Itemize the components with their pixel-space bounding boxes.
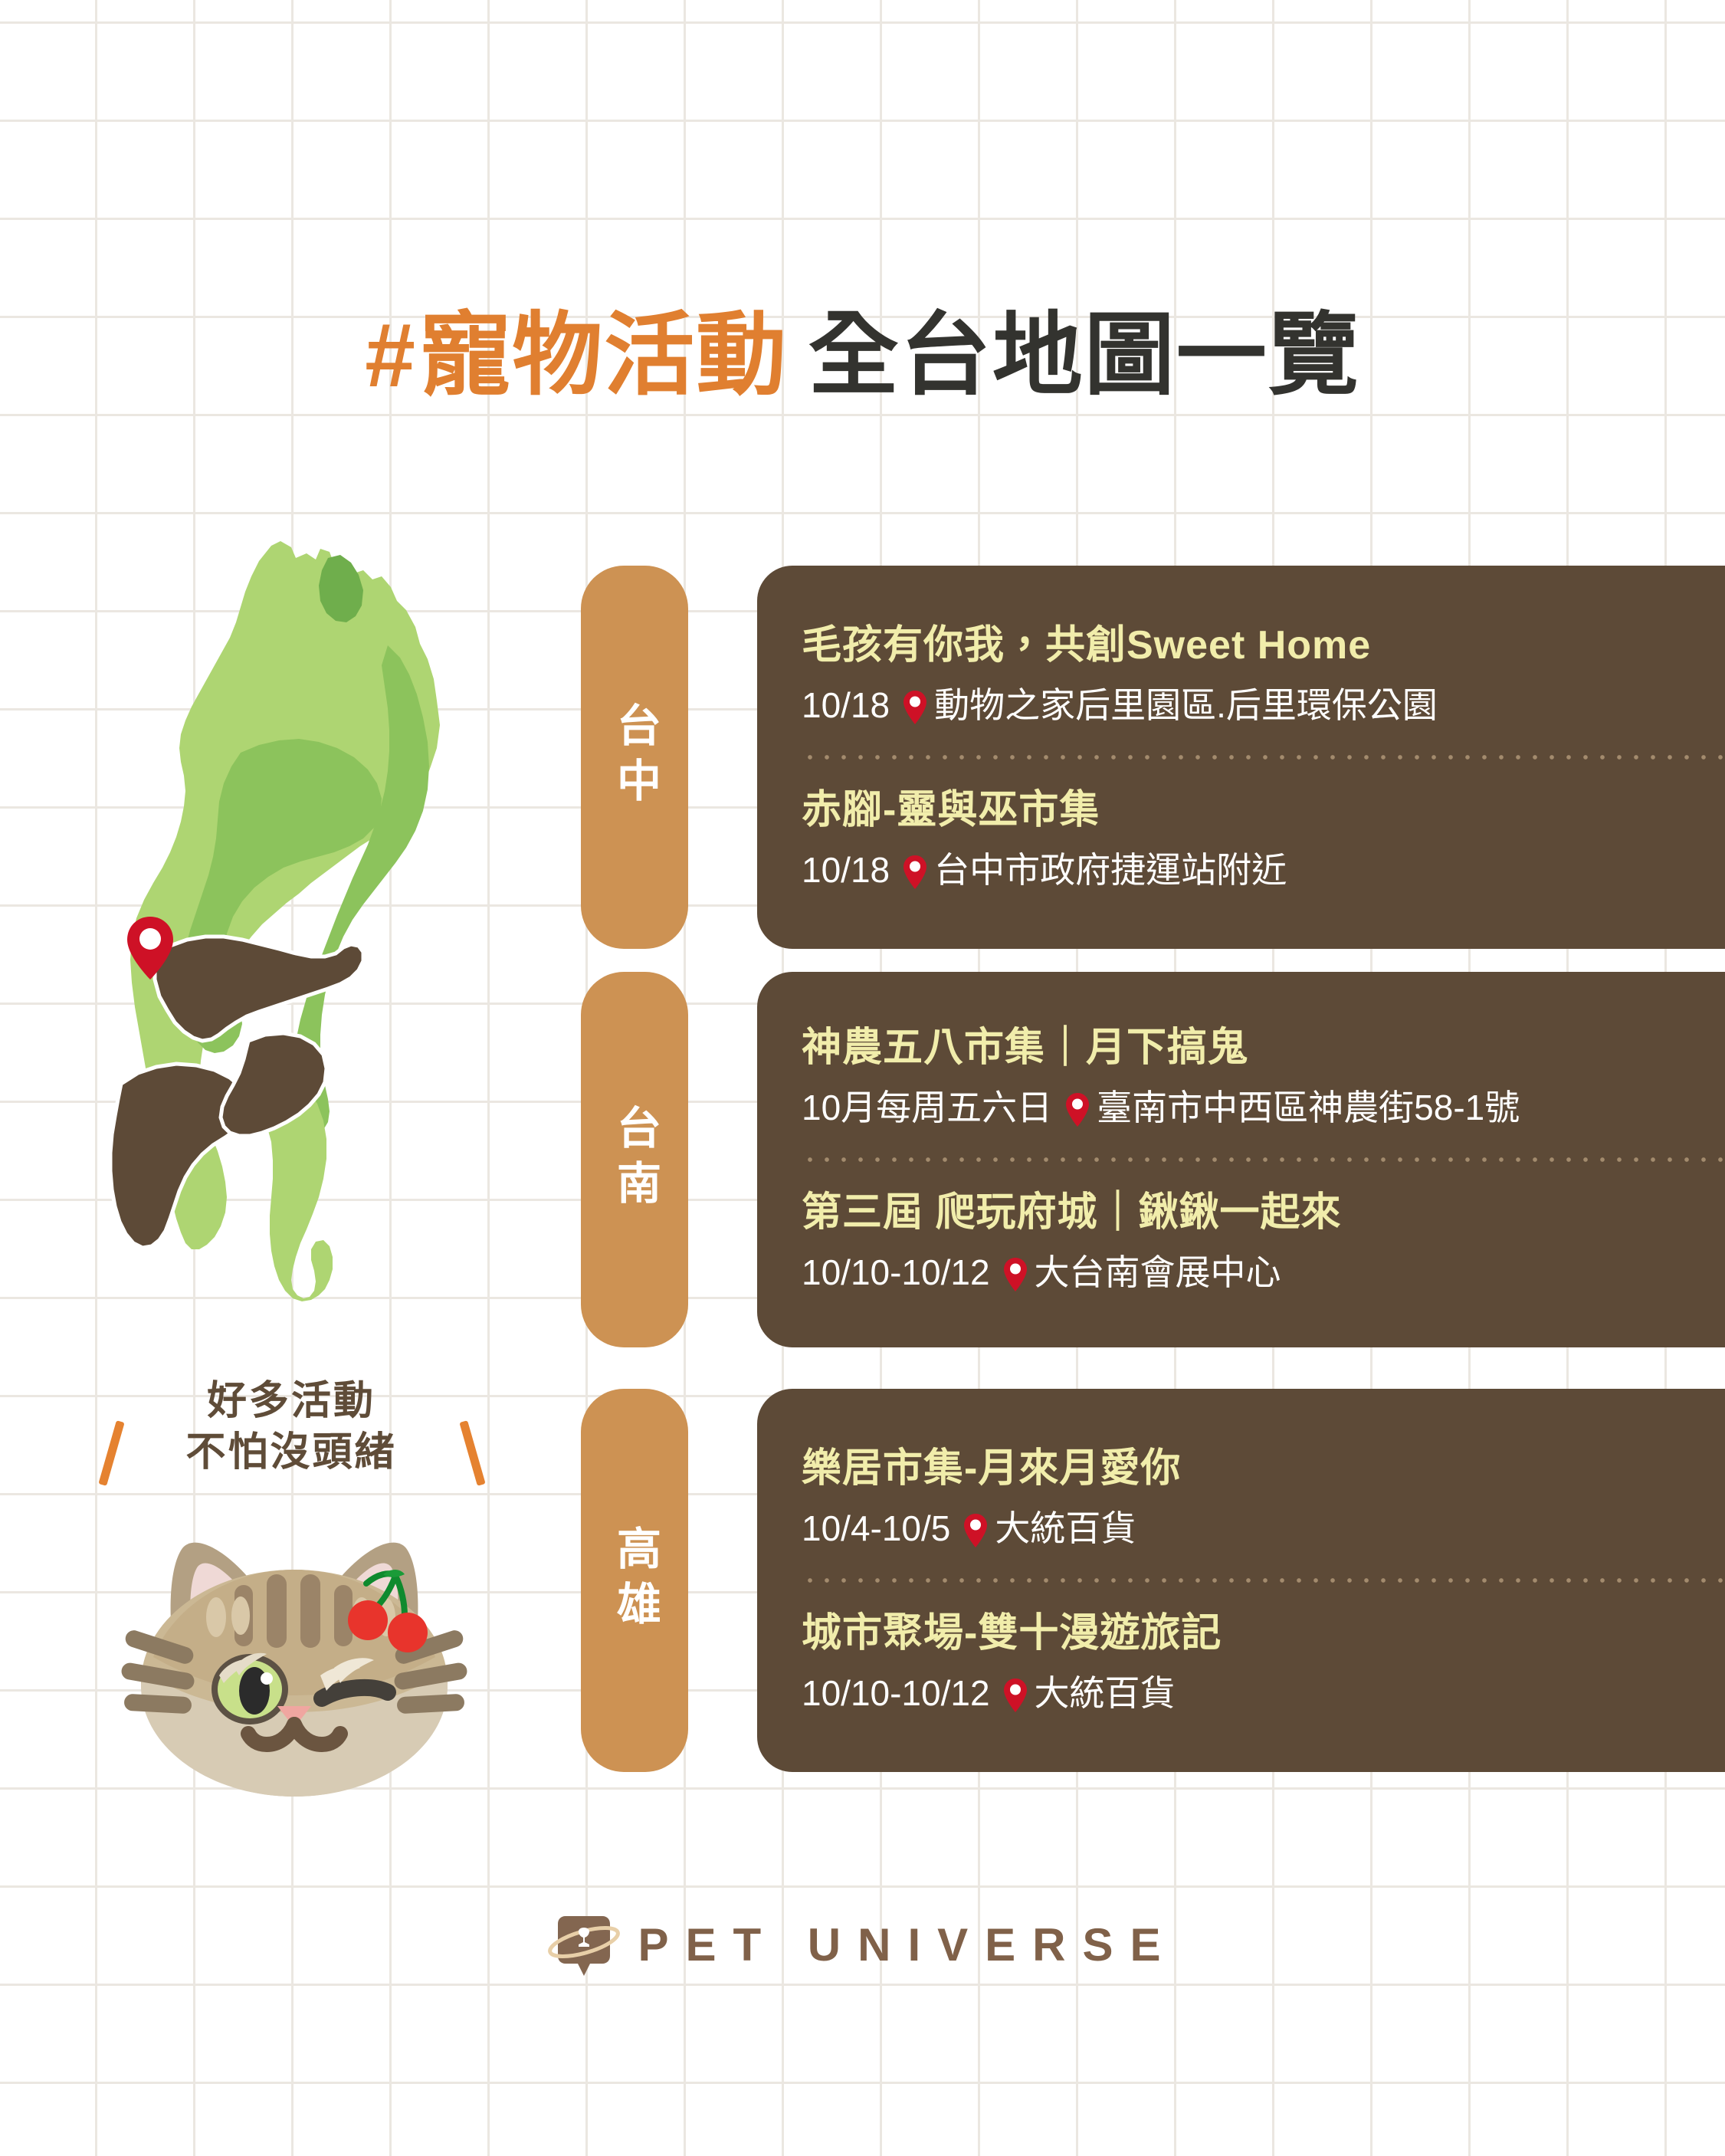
event-date: 10/10-10/12 <box>802 1671 990 1717</box>
event-meta: 10月每周五六日 臺南市中西區神農街58-1號 <box>802 1085 1725 1131</box>
events-card-taichung: 毛孩有你我，共創Sweet Home 10/18 動物之家后里園區.后里環保公園… <box>757 566 1725 949</box>
event-venue: 臺南市中西區神農街58-1號 <box>1097 1085 1520 1131</box>
event-meta: 10/18 台中市政府捷運站附近 <box>802 848 1725 894</box>
event-venue: 動物之家后里園區.后里環保公園 <box>934 683 1438 729</box>
promo-line-1: 好多活動 <box>77 1376 506 1427</box>
events-card-kaohsiung: 樂居市集-月來月愛你 10/4-10/5 大統百貨 城市聚場-雙十漫遊旅記 10… <box>757 1389 1725 1772</box>
event-title: 神農五八市集｜月下搞鬼 <box>802 1023 1725 1073</box>
tab-tainan[interactable]: 台南 <box>581 972 688 1347</box>
event-venue: 大統百貨 <box>995 1506 1136 1552</box>
title-rest: 全台地圖一覽 <box>808 305 1360 406</box>
location-pin-icon <box>1004 1679 1027 1712</box>
event-title: 第三屆 爬玩府城｜鍬鍬一起來 <box>802 1188 1725 1238</box>
event-date: 10/10-10/12 <box>802 1250 990 1296</box>
event-title: 毛孩有你我，共創Sweet Home <box>802 621 1725 671</box>
event-divider <box>802 1578 1725 1583</box>
brand-wordmark: PET UNIVERSE <box>638 1922 1177 1968</box>
poster-page: # 寵物活動 全台地圖一覽 <box>0 0 1725 2156</box>
event-date: 10月每周五六日 <box>802 1085 1052 1131</box>
tab-label-taichung: 台中 <box>612 702 657 812</box>
location-pin-icon <box>903 855 926 889</box>
event-item[interactable]: 第三屆 爬玩府城｜鍬鍬一起來 10/10-10/12 大台南會展中心 <box>802 1188 1725 1296</box>
tab-label-tainan: 台南 <box>612 1104 657 1215</box>
event-item[interactable]: 赤腳-靈與巫市集 10/18 台中市政府捷運站附近 <box>802 786 1725 894</box>
city-section-kaohsiung: 高雄 樂居市集-月來月愛你 10/4-10/5 大統百貨 城市聚場-雙十漫遊旅記… <box>581 1389 1623 1772</box>
event-item[interactable]: 城市聚場-雙十漫遊旅記 10/10-10/12 大統百貨 <box>802 1609 1725 1717</box>
location-pin-icon <box>964 1514 987 1547</box>
event-item[interactable]: 樂居市集-月來月愛你 10/4-10/5 大統百貨 <box>802 1444 1725 1552</box>
event-divider <box>802 1157 1725 1162</box>
promo-line-2: 不怕沒頭緒 <box>77 1427 506 1478</box>
location-pin-icon <box>1066 1093 1089 1127</box>
event-date: 10/4-10/5 <box>802 1506 950 1552</box>
page-title: # 寵物活動 全台地圖一覽 <box>0 310 1725 401</box>
event-meta: 10/10-10/12 大台南會展中心 <box>802 1250 1725 1296</box>
location-pin-icon <box>1004 1258 1027 1291</box>
event-item[interactable]: 神農五八市集｜月下搞鬼 10月每周五六日 臺南市中西區神農街58-1號 <box>802 1023 1725 1131</box>
event-divider <box>802 755 1725 760</box>
event-item[interactable]: 毛孩有你我，共創Sweet Home 10/18 動物之家后里園區.后里環保公園 <box>802 621 1725 729</box>
event-title: 樂居市集-月來月愛你 <box>802 1444 1725 1494</box>
tab-label-kaohsiung: 高雄 <box>612 1525 657 1636</box>
event-meta: 10/4-10/5 大統百貨 <box>802 1506 1725 1552</box>
event-title: 赤腳-靈與巫市集 <box>802 786 1725 835</box>
title-highlight: 寵物活動 <box>420 305 788 406</box>
event-title: 城市聚場-雙十漫遊旅記 <box>802 1609 1725 1659</box>
city-section-tainan: 台南 神農五八市集｜月下搞鬼 10月每周五六日 臺南市中西區神農街58-1號 第… <box>581 972 1623 1347</box>
city-section-taichung: 台中 毛孩有你我，共創Sweet Home 10/18 動物之家后里園區.后里環… <box>581 566 1623 949</box>
event-date: 10/18 <box>802 848 890 894</box>
pet-universe-logo-icon <box>547 1908 621 1982</box>
cat-mascot-illustration <box>77 1495 506 1801</box>
event-meta: 10/18 動物之家后里園區.后里環保公園 <box>802 683 1725 729</box>
tab-taichung[interactable]: 台中 <box>581 566 688 949</box>
tab-kaohsiung[interactable]: 高雄 <box>581 1389 688 1772</box>
event-venue: 台中市政府捷運站附近 <box>934 848 1287 894</box>
taiwan-map <box>90 537 497 1311</box>
event-meta: 10/10-10/12 大統百貨 <box>802 1671 1725 1717</box>
events-card-tainan: 神農五八市集｜月下搞鬼 10月每周五六日 臺南市中西區神農街58-1號 第三屆 … <box>757 972 1725 1347</box>
event-venue: 大統百貨 <box>1035 1671 1176 1717</box>
promo-block: 好多活動 不怕沒頭緒 <box>77 1376 506 1801</box>
event-date: 10/18 <box>802 683 890 729</box>
event-venue: 大台南會展中心 <box>1035 1250 1281 1296</box>
location-pin-icon <box>903 691 926 724</box>
footer-brand: PET UNIVERSE <box>0 1908 1725 1982</box>
hash-symbol: # <box>365 305 417 406</box>
promo-caption: 好多活動 不怕沒頭緒 <box>77 1376 506 1478</box>
